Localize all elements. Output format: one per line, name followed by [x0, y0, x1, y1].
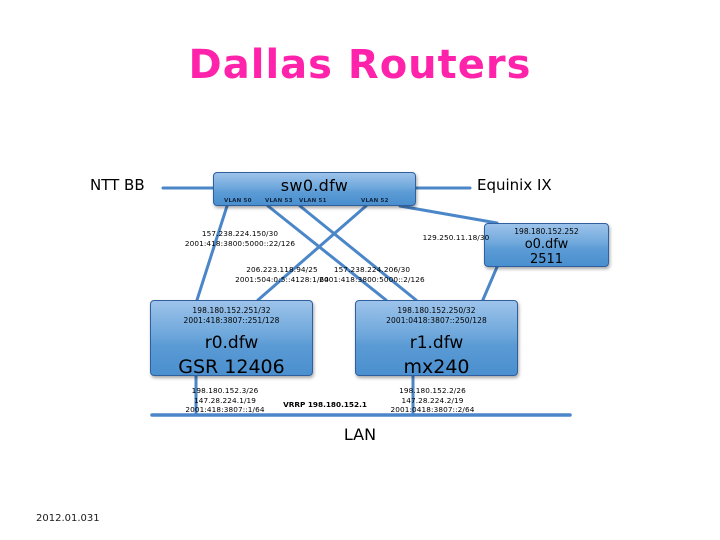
switch-port-vlan52: VLAN 52	[361, 198, 389, 204]
r0-hostname: r0.dfw	[151, 332, 312, 355]
link-vlan51-to-r1	[300, 206, 416, 300]
annotation-ntt-r0: 157.238.224.150/30 2001:418:3800:5000::2…	[165, 229, 315, 248]
node-console-o0dfw[interactable]: 198.180.152.252 o0.dfw 2511	[484, 223, 609, 267]
annotation-lan-r0-ipv4: 198.180.152.3/26	[155, 386, 295, 396]
slide-footer-date: 2012.01.031	[36, 513, 100, 524]
switch-port-vlan51: VLAN 51	[299, 198, 327, 204]
o0-model: 2511	[485, 252, 608, 267]
annotation-lan-r1-ipv4: 198.180.152.2/26	[360, 386, 505, 396]
lan-label: LAN	[0, 425, 720, 444]
slide-canvas: Dallas Routers NTT BB Equinix IX LAN sw0…	[0, 0, 720, 540]
link-switch-to-o0	[400, 206, 497, 223]
switch-port-vlan50: VLAN 50	[224, 198, 252, 204]
annotation-ntt-r1: 157.238.224.206/30 2001:418:3800:5000::2…	[313, 265, 431, 284]
annotation-ntt-r1-ipv6: 2001:418:3800:5000::2/126	[313, 275, 431, 285]
page-title: Dallas Routers	[0, 42, 720, 88]
peer-label-ntt: NTT BB	[90, 176, 145, 194]
annotation-ntt-r1-ipv4: 157.238.224.206/30	[313, 265, 431, 275]
r1-hostname: r1.dfw	[356, 332, 517, 355]
r0-model: GSR 12406	[151, 355, 312, 379]
link-vlan52-to-r0	[258, 206, 366, 300]
link-vlan53-to-r1	[268, 206, 386, 300]
node-router-r1dfw[interactable]: 198.180.152.250/32 2001:0418:3807::250/1…	[355, 300, 518, 376]
annotation-equinix-uplink-ipv4: 129.250.11.18/30	[400, 233, 512, 243]
r1-model: mx240	[356, 355, 517, 379]
node-router-r0dfw[interactable]: 198.180.152.251/32 2001:418:3807::251/12…	[150, 300, 313, 376]
annotation-ntt-r0-ipv4: 157.238.224.150/30	[165, 229, 315, 239]
r1-ipv4-loopback: 198.180.152.250/32	[356, 306, 517, 316]
switch-name: sw0.dfw	[214, 176, 415, 195]
switch-port-vlan53: VLAN 53	[265, 198, 293, 204]
peer-label-equinix: Equinix IX	[477, 176, 552, 194]
node-switch-sw0dfw[interactable]: sw0.dfw VLAN 50 VLAN 53 VLAN 51 VLAN 52	[213, 172, 416, 206]
annotation-ntt-r0-ipv6: 2001:418:3800:5000::22/126	[165, 239, 315, 249]
r1-ipv6-loopback: 2001:0418:3807::250/128	[356, 316, 517, 326]
link-vlan50-to-r0	[197, 206, 227, 300]
r0-ipv4-loopback: 198.180.152.251/32	[151, 306, 312, 316]
annotation-equinix-uplink: 129.250.11.18/30	[400, 233, 512, 243]
annotation-vrrp: VRRP 198.180.152.1	[240, 400, 410, 410]
r0-ipv6-loopback: 2001:418:3807::251/128	[151, 316, 312, 326]
